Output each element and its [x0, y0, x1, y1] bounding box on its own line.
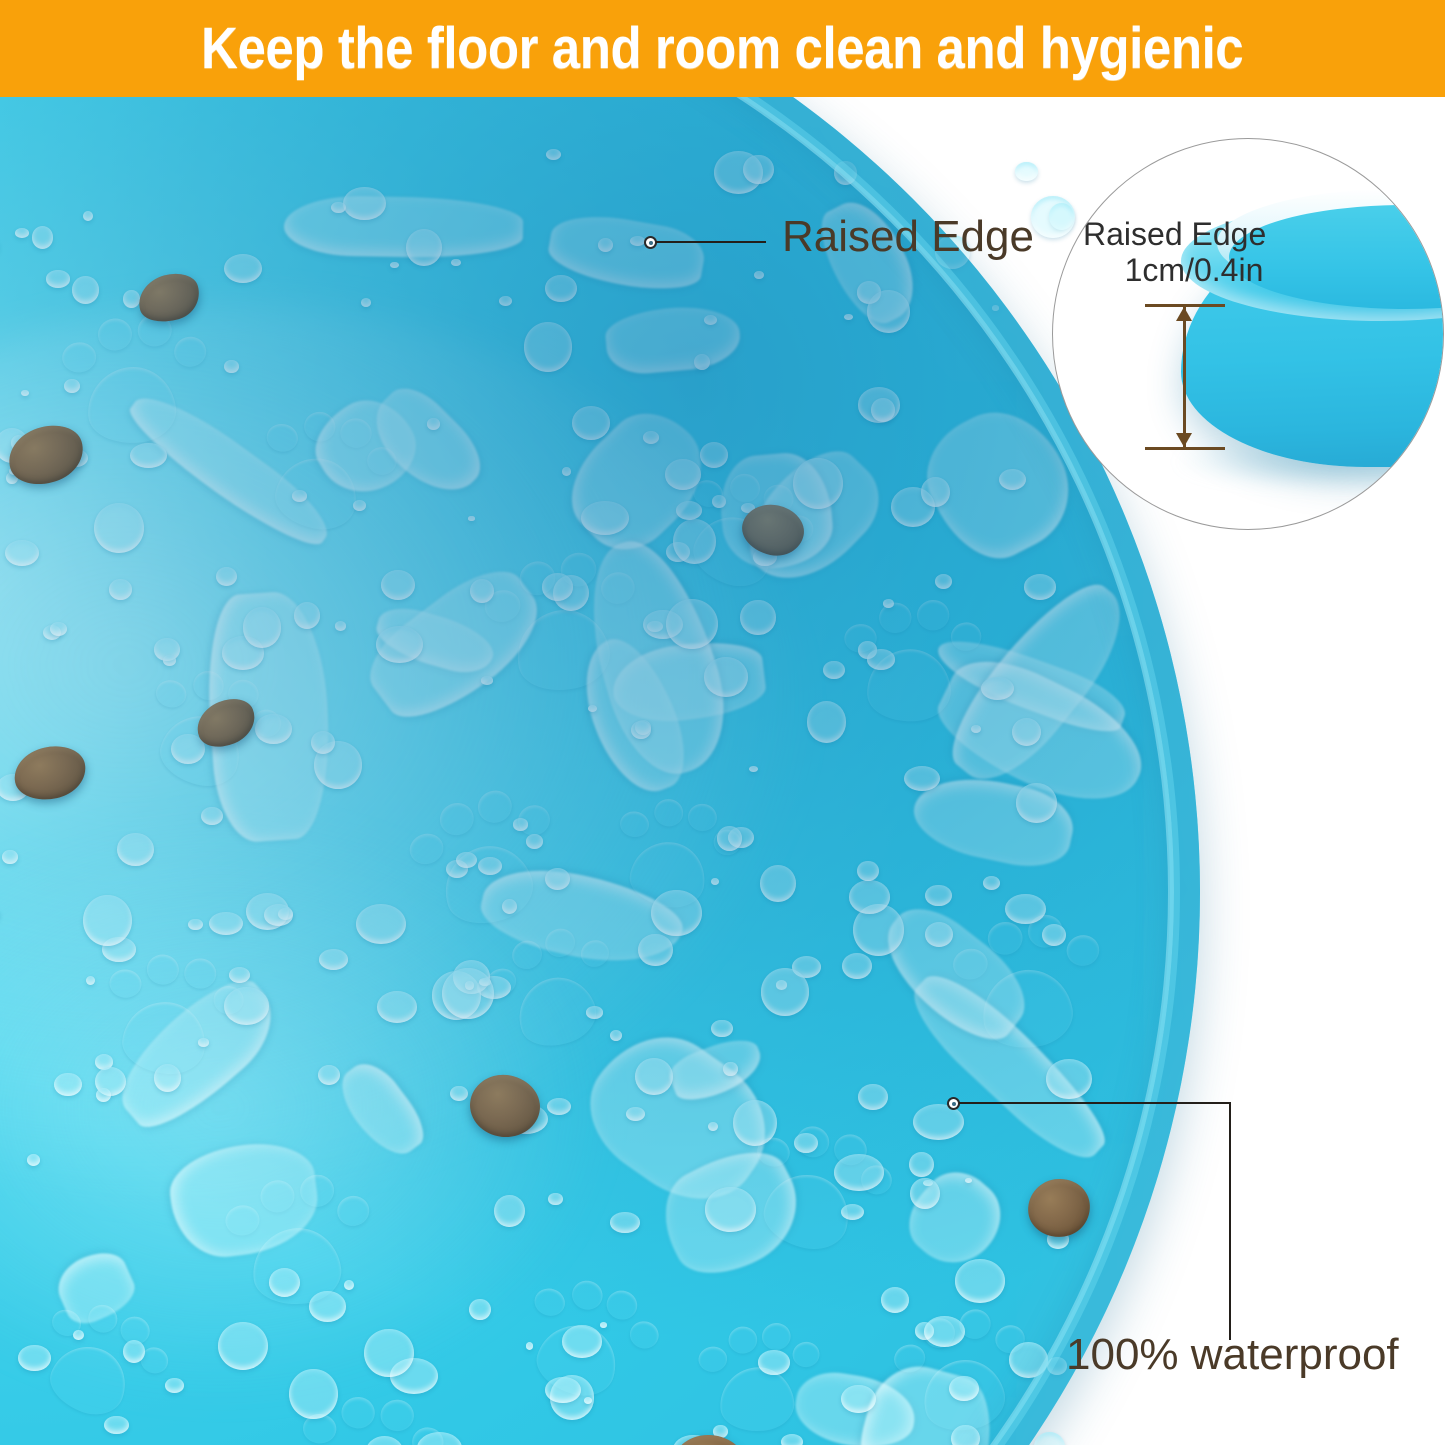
raised-edge-anchor-dot [644, 236, 657, 249]
waterproof-leader-vertical [1229, 1102, 1231, 1340]
inset-measurement: 1cm/0.4in [1083, 253, 1305, 289]
dimension-tick-bottom [1145, 447, 1225, 450]
callout-raised-edge-label: Raised Edge [782, 212, 1034, 262]
raised-edge-detail-inset: Raised Edge 1cm/0.4in [1052, 138, 1444, 530]
waterproof-anchor-dot [947, 1097, 960, 1110]
header-banner: Keep the floor and room clean and hygien… [0, 0, 1445, 97]
product-infographic: Keep the floor and room clean and hygien… [0, 0, 1445, 1445]
banner-headline: Keep the floor and room clean and hygien… [201, 15, 1243, 82]
water-droplet [1015, 162, 1037, 181]
dimension-arrowhead-down [1176, 433, 1192, 447]
callout-waterproof-label: 100% waterproof [1066, 1330, 1399, 1380]
inset-title: Raised Edge [1083, 217, 1266, 253]
feeding-tray [0, 97, 1200, 1445]
dimension-shaft [1183, 307, 1186, 447]
dimension-arrowhead-up [1176, 307, 1192, 321]
water-droplet [1049, 203, 1075, 230]
water-droplet [1034, 1432, 1065, 1445]
water-droplet [1031, 196, 1074, 237]
tray-rim-inner-highlight [0, 97, 1180, 1445]
